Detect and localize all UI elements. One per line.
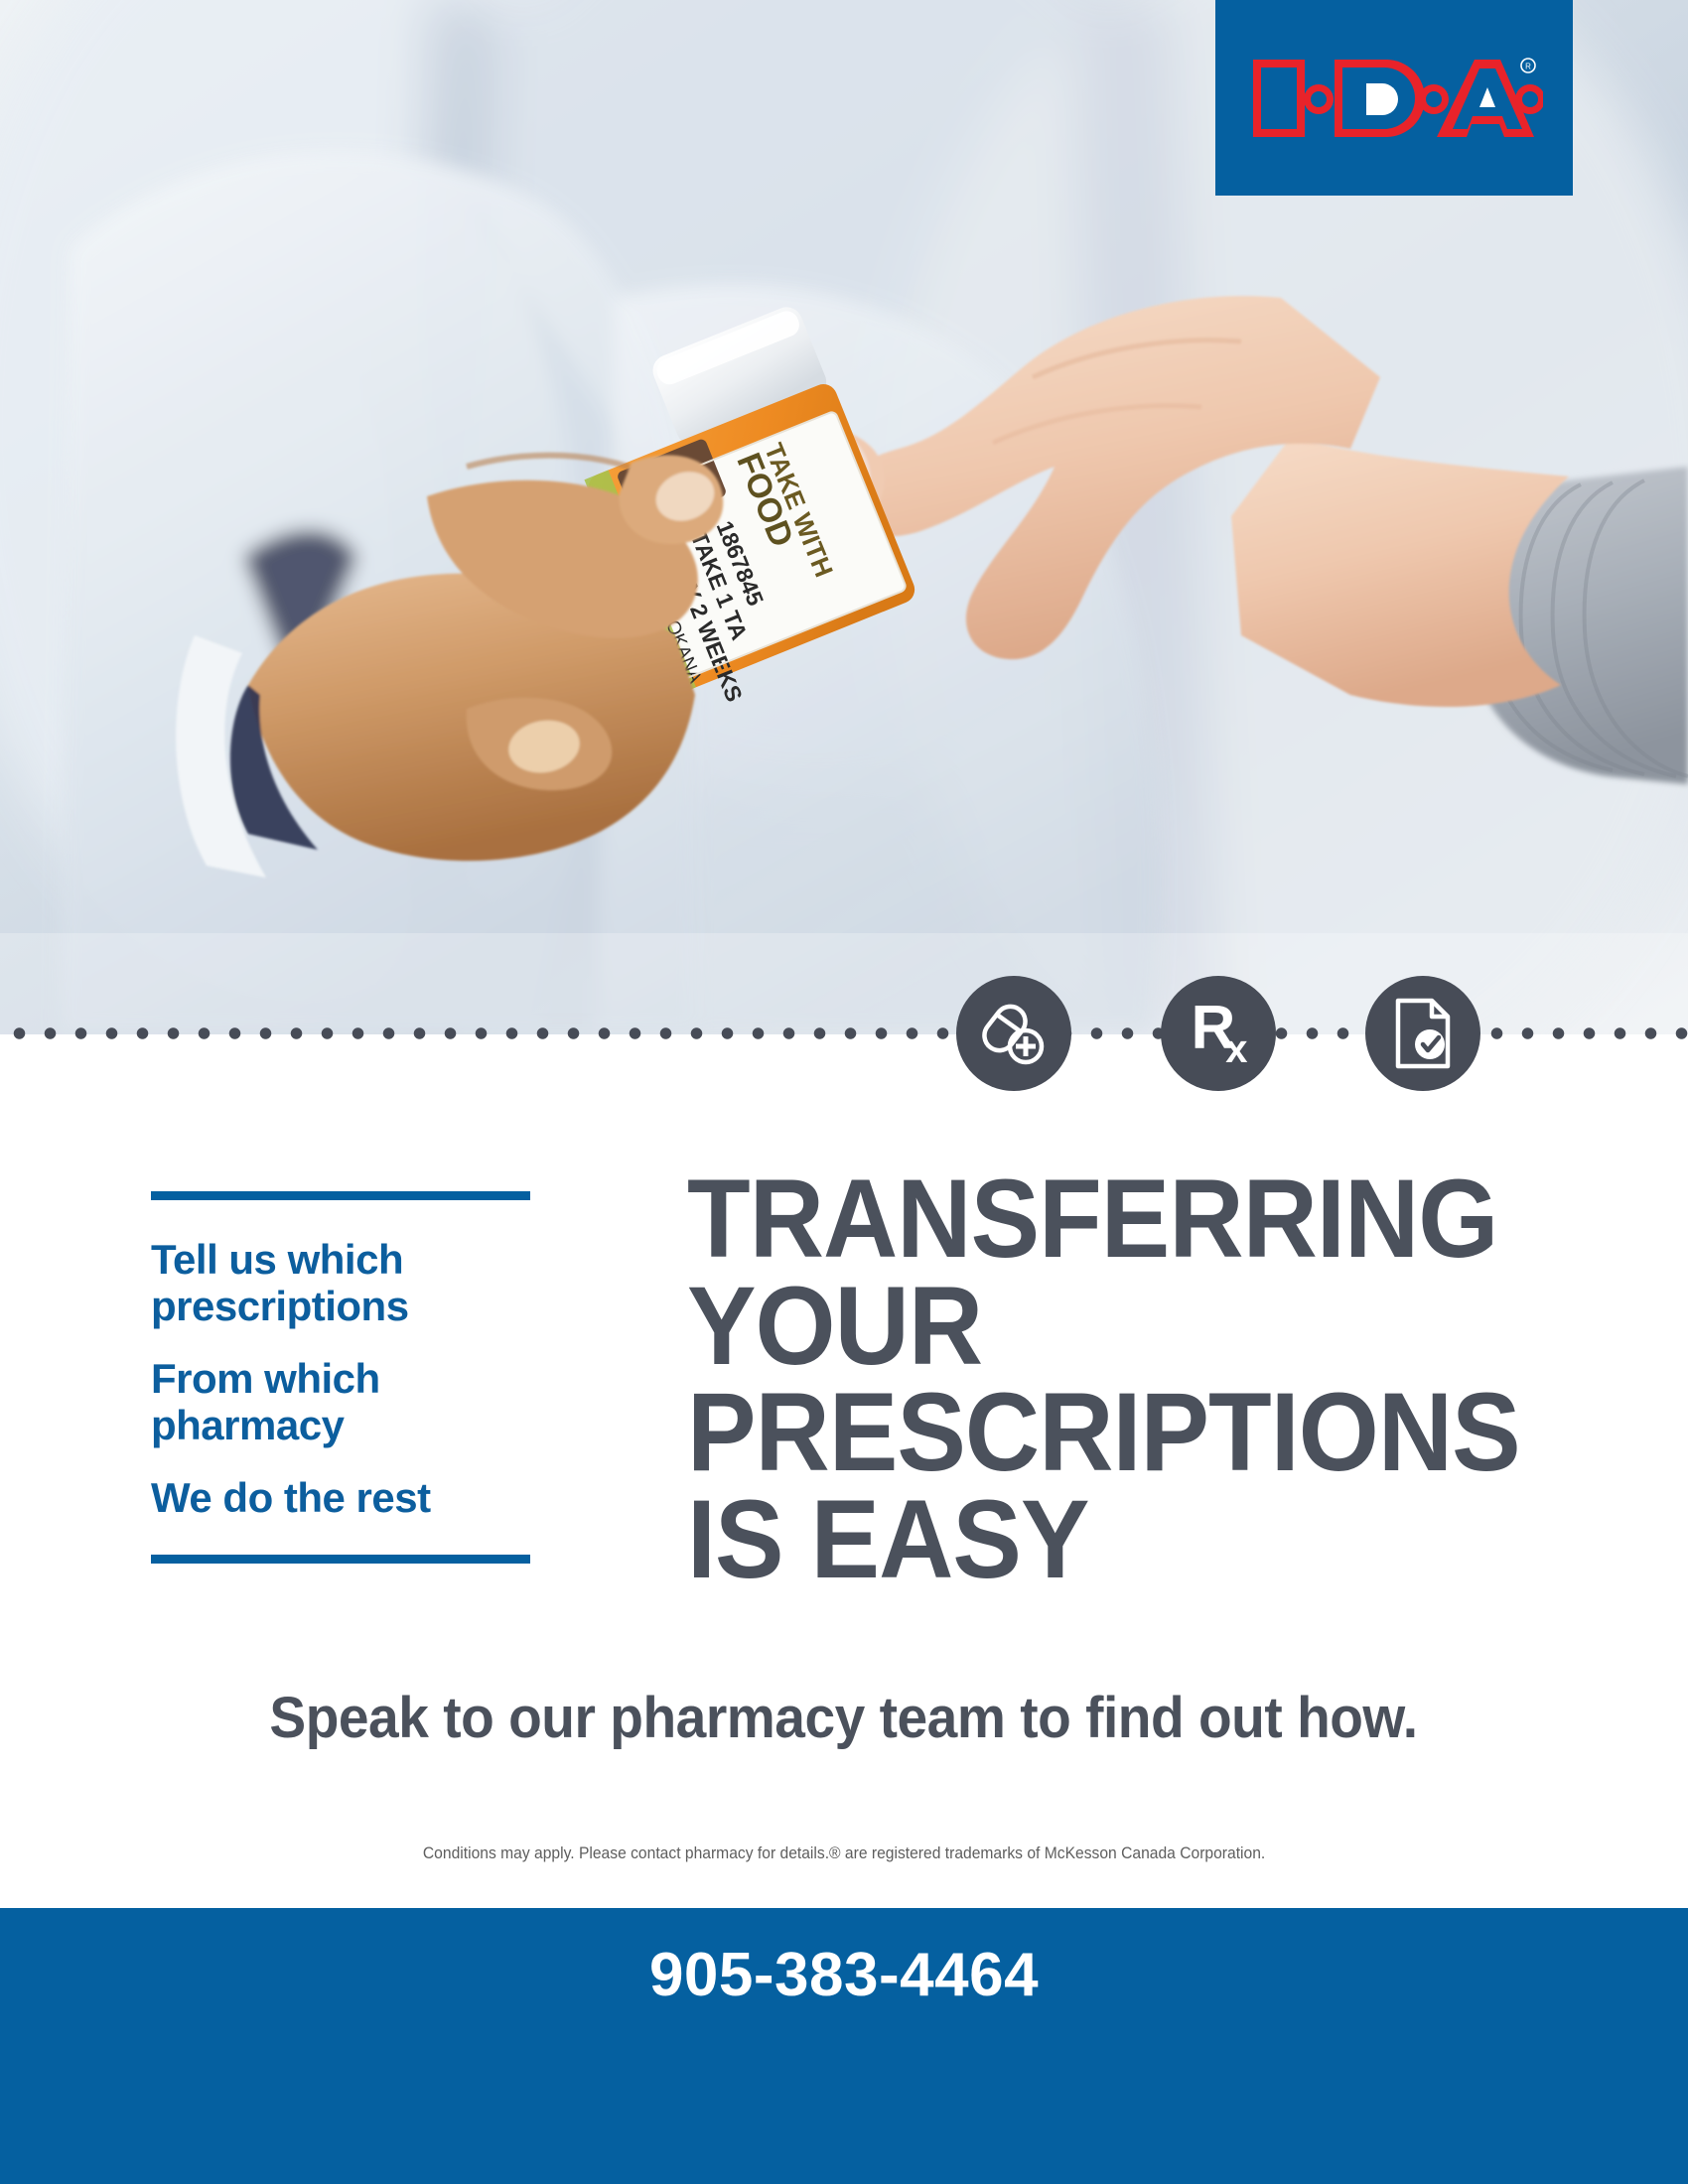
headline-line-3: PRESCRIPTIONS [687,1379,1518,1486]
poster-root: TAKE WITH FOOD 1867845 TAKE 1 TA ONLY 2 … [0,0,1688,2184]
subheadline: Speak to our pharmacy team to find out h… [0,1685,1688,1751]
headline-line-2: YOUR [687,1273,1518,1380]
page-title: TRANSFERRING YOUR PRESCRIPTIONS IS EASY [687,1165,1518,1592]
subheadline-text: Speak to our pharmacy team to find out h… [270,1685,1418,1751]
footer-bar: 905-383-4464 [0,1908,1688,2184]
legal-disclaimer: Conditions may apply. Please contact pha… [0,1843,1688,1863]
steps-list: Tell us which prescriptions From which p… [151,1191,530,1564]
step-item-1: Tell us which prescriptions [151,1236,530,1329]
ida-logo: R [1215,0,1573,196]
svg-text:R: R [1525,62,1531,70]
legal-disclaimer-text: Conditions may apply. Please contact pha… [423,1843,1265,1863]
lower-content: Tell us which prescriptions From which p… [0,1034,1688,1908]
step-item-2: From which pharmacy [151,1355,530,1448]
step-item-3: We do the rest [151,1474,530,1521]
phone-number[interactable]: 905-383-4464 [649,1940,1039,2010]
steps-rule-bottom [151,1555,530,1564]
steps-rule-top [151,1191,530,1200]
headline-line-4: IS EASY [687,1486,1518,1593]
ida-logo-mark: R [1245,44,1543,153]
headline-line-1: TRANSFERRING [687,1165,1518,1273]
